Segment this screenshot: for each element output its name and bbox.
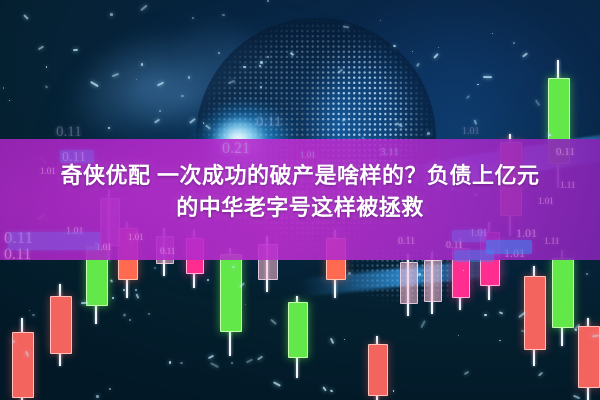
sparkle-dash	[592, 334, 599, 337]
sparkle-dot	[109, 388, 111, 390]
decor-number: 1.01	[128, 232, 144, 242]
sparkle-dot	[159, 110, 161, 112]
decor-number: 0.11	[160, 246, 175, 256]
sparkle-dot	[180, 362, 182, 364]
sparkle-dot	[267, 0, 269, 2]
sparkle-dot	[513, 42, 515, 44]
sparkle-dot	[135, 289, 137, 291]
candle-body	[288, 302, 308, 358]
decor-chip	[8, 232, 100, 250]
banner-image: 0.110.210.113.111.010.111.010.111.011.01…	[0, 0, 600, 400]
sparkle-dot	[3, 87, 5, 89]
decor-number: 0.11	[398, 236, 415, 247]
candle-body	[368, 344, 388, 396]
candle-body	[524, 276, 546, 350]
headline-line-1: 奇侠优配 一次成功的破产是啥样的？负债上亿元	[0, 160, 600, 192]
decor-number: 0.11	[56, 124, 82, 141]
candle-body	[50, 296, 72, 354]
headline-line-2: 的中华老字号这样被拯救	[0, 192, 600, 224]
sparkle-dot	[112, 297, 114, 299]
candle-body	[400, 262, 418, 304]
decor-chip	[452, 230, 486, 242]
sparkle-dash	[392, 45, 395, 48]
sparkle-dash	[483, 76, 492, 78]
decor-number: 1.01	[516, 226, 537, 241]
headline-text: 奇侠优配 一次成功的破产是啥样的？负债上亿元 的中华老字号这样被拯救	[0, 160, 600, 224]
sparkle-dot	[96, 395, 99, 398]
decor-number: 1.01	[300, 150, 316, 160]
sparkle-dot	[231, 362, 233, 364]
sparkle-dot	[110, 13, 113, 16]
decor-number: 1.01	[462, 126, 480, 137]
decor-chip	[454, 250, 494, 262]
decor-number: 0.11	[256, 114, 282, 131]
decor-number: 0.21	[222, 140, 250, 158]
sparkle-dash	[81, 301, 88, 303]
sparkle-dash	[73, 48, 78, 51]
sparkle-dot	[418, 273, 421, 276]
sparkle-dot	[136, 79, 137, 80]
sparkle-dot	[380, 20, 381, 21]
sparkle-dash	[521, 329, 525, 332]
decor-number: 1.11	[544, 236, 559, 246]
decor-number: 0.11	[556, 146, 575, 158]
sparkle-dot	[13, 340, 16, 343]
sparkle-dot	[548, 134, 551, 137]
decor-number: 3.11	[380, 146, 399, 158]
candle-body	[220, 254, 242, 332]
sparkle-dot	[260, 61, 263, 64]
sparkle-dot	[108, 127, 109, 128]
sparkle-dot	[393, 390, 395, 392]
sparkle-dot	[129, 319, 131, 321]
candle-body	[12, 332, 34, 398]
sparkle-dot	[123, 289, 125, 291]
candle-body	[424, 260, 442, 302]
sparkle-dot	[181, 95, 184, 98]
sparkle-dot	[427, 132, 430, 135]
